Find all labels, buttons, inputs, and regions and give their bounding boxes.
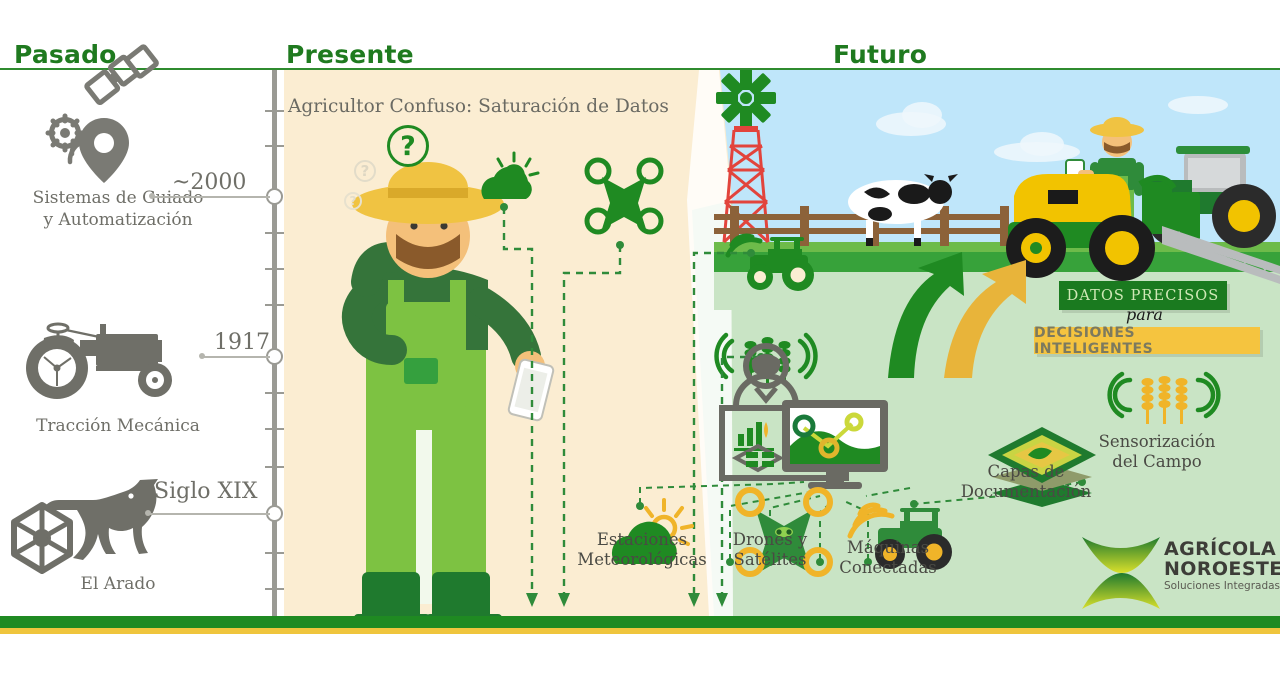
tractor-wifi-icon (728, 236, 814, 291)
past-item-mechanical: Tracción Mecánica (0, 310, 236, 438)
question-bubble-large: ? (387, 125, 429, 167)
future-label-sensorizacion-line2: del Campo (1082, 452, 1232, 472)
future-label-drones-line1: Drones y (706, 530, 834, 550)
past-label-plow: El Arado (0, 574, 236, 596)
future-label-estaciones: Estaciones Meteorológicas (568, 530, 716, 571)
future-label-sensorizacion-line1: Sensorización (1082, 432, 1232, 452)
banner-datos-precisos-text: DATOS PRECISOS (1067, 288, 1220, 304)
banner-decisiones-inteligentes: DECISIONES INTELIGENTES (1034, 327, 1260, 354)
future-label-capas-line2: Documentación (948, 482, 1104, 502)
growth-arrows (880, 250, 1040, 380)
footer-bar-yellow (0, 628, 1280, 634)
future-label-capas: Capas de Documentación (948, 462, 1104, 503)
brand-logo-tagline: Soluciones Integradas (1164, 580, 1280, 592)
future-label-drones-line2: Satélites (706, 550, 834, 570)
brand-logo-text: AGRÍCOLA NOROESTE Soluciones Integradas (1164, 539, 1280, 592)
cloud-sun-icon (481, 153, 538, 199)
question-bubble-small: ? (344, 192, 362, 210)
brand-logo: AGRÍCOLA NOROESTE Soluciones Integradas (1078, 535, 1268, 607)
future-label-estaciones-line1: Estaciones (568, 530, 716, 550)
future-label-maquinas-line2: Conectadas (822, 558, 954, 578)
past-label-plow-line1: El Arado (0, 574, 236, 596)
timeline-year-sigloxix: Siglo XIX (154, 479, 257, 504)
timeline-year-1917: 1917 (214, 330, 270, 355)
past-label-mechanical-line1: Tracción Mecánica (0, 416, 236, 438)
question-bubble-medium: ? (354, 160, 376, 182)
past-label-mechanical: Tracción Mecánica (0, 416, 236, 438)
future-label-maquinas: Máquinas Conectadas (822, 538, 954, 579)
past-label-guidance-line2: y Automatización (0, 210, 236, 232)
era-title-futuro: Futuro (833, 40, 927, 69)
header-band (0, 0, 1280, 70)
future-label-capas-line1: Capas de (948, 462, 1104, 482)
infographic-root: Pasado Presente Futuro (0, 0, 1280, 686)
future-label-maquinas-line1: Máquinas (822, 538, 954, 558)
timeline-rail (272, 70, 277, 616)
future-label-sensorizacion: Sensorización del Campo (1082, 432, 1232, 473)
vintage-tractor-icon (0, 310, 236, 410)
drone-icon (587, 160, 661, 232)
self-propelled-sprayer-icon (1002, 162, 1280, 292)
timeline-year-2000: ~2000 (172, 170, 246, 195)
era-title-presente: Presente (286, 40, 414, 69)
banner-decisiones-inteligentes-text: DECISIONES INTELIGENTES (1034, 325, 1260, 357)
present-heading: Agricultor Confuso: Saturación de Datos (288, 96, 669, 117)
past-item-guidance: Sistemas de Guiado y Automatización (0, 80, 236, 232)
brand-logo-line1: AGRÍCOLA (1164, 539, 1280, 559)
banner-connector-para: para (1126, 305, 1163, 324)
footer-bar-green (0, 616, 1280, 628)
future-label-estaciones-line2: Meteorológicas (568, 550, 716, 570)
wheat-sensor-icon (1116, 370, 1212, 430)
era-title-pasado: Pasado (14, 40, 117, 69)
future-label-drones: Drones y Satélites (706, 530, 834, 571)
brand-logo-line2: NOROESTE (1164, 559, 1280, 579)
